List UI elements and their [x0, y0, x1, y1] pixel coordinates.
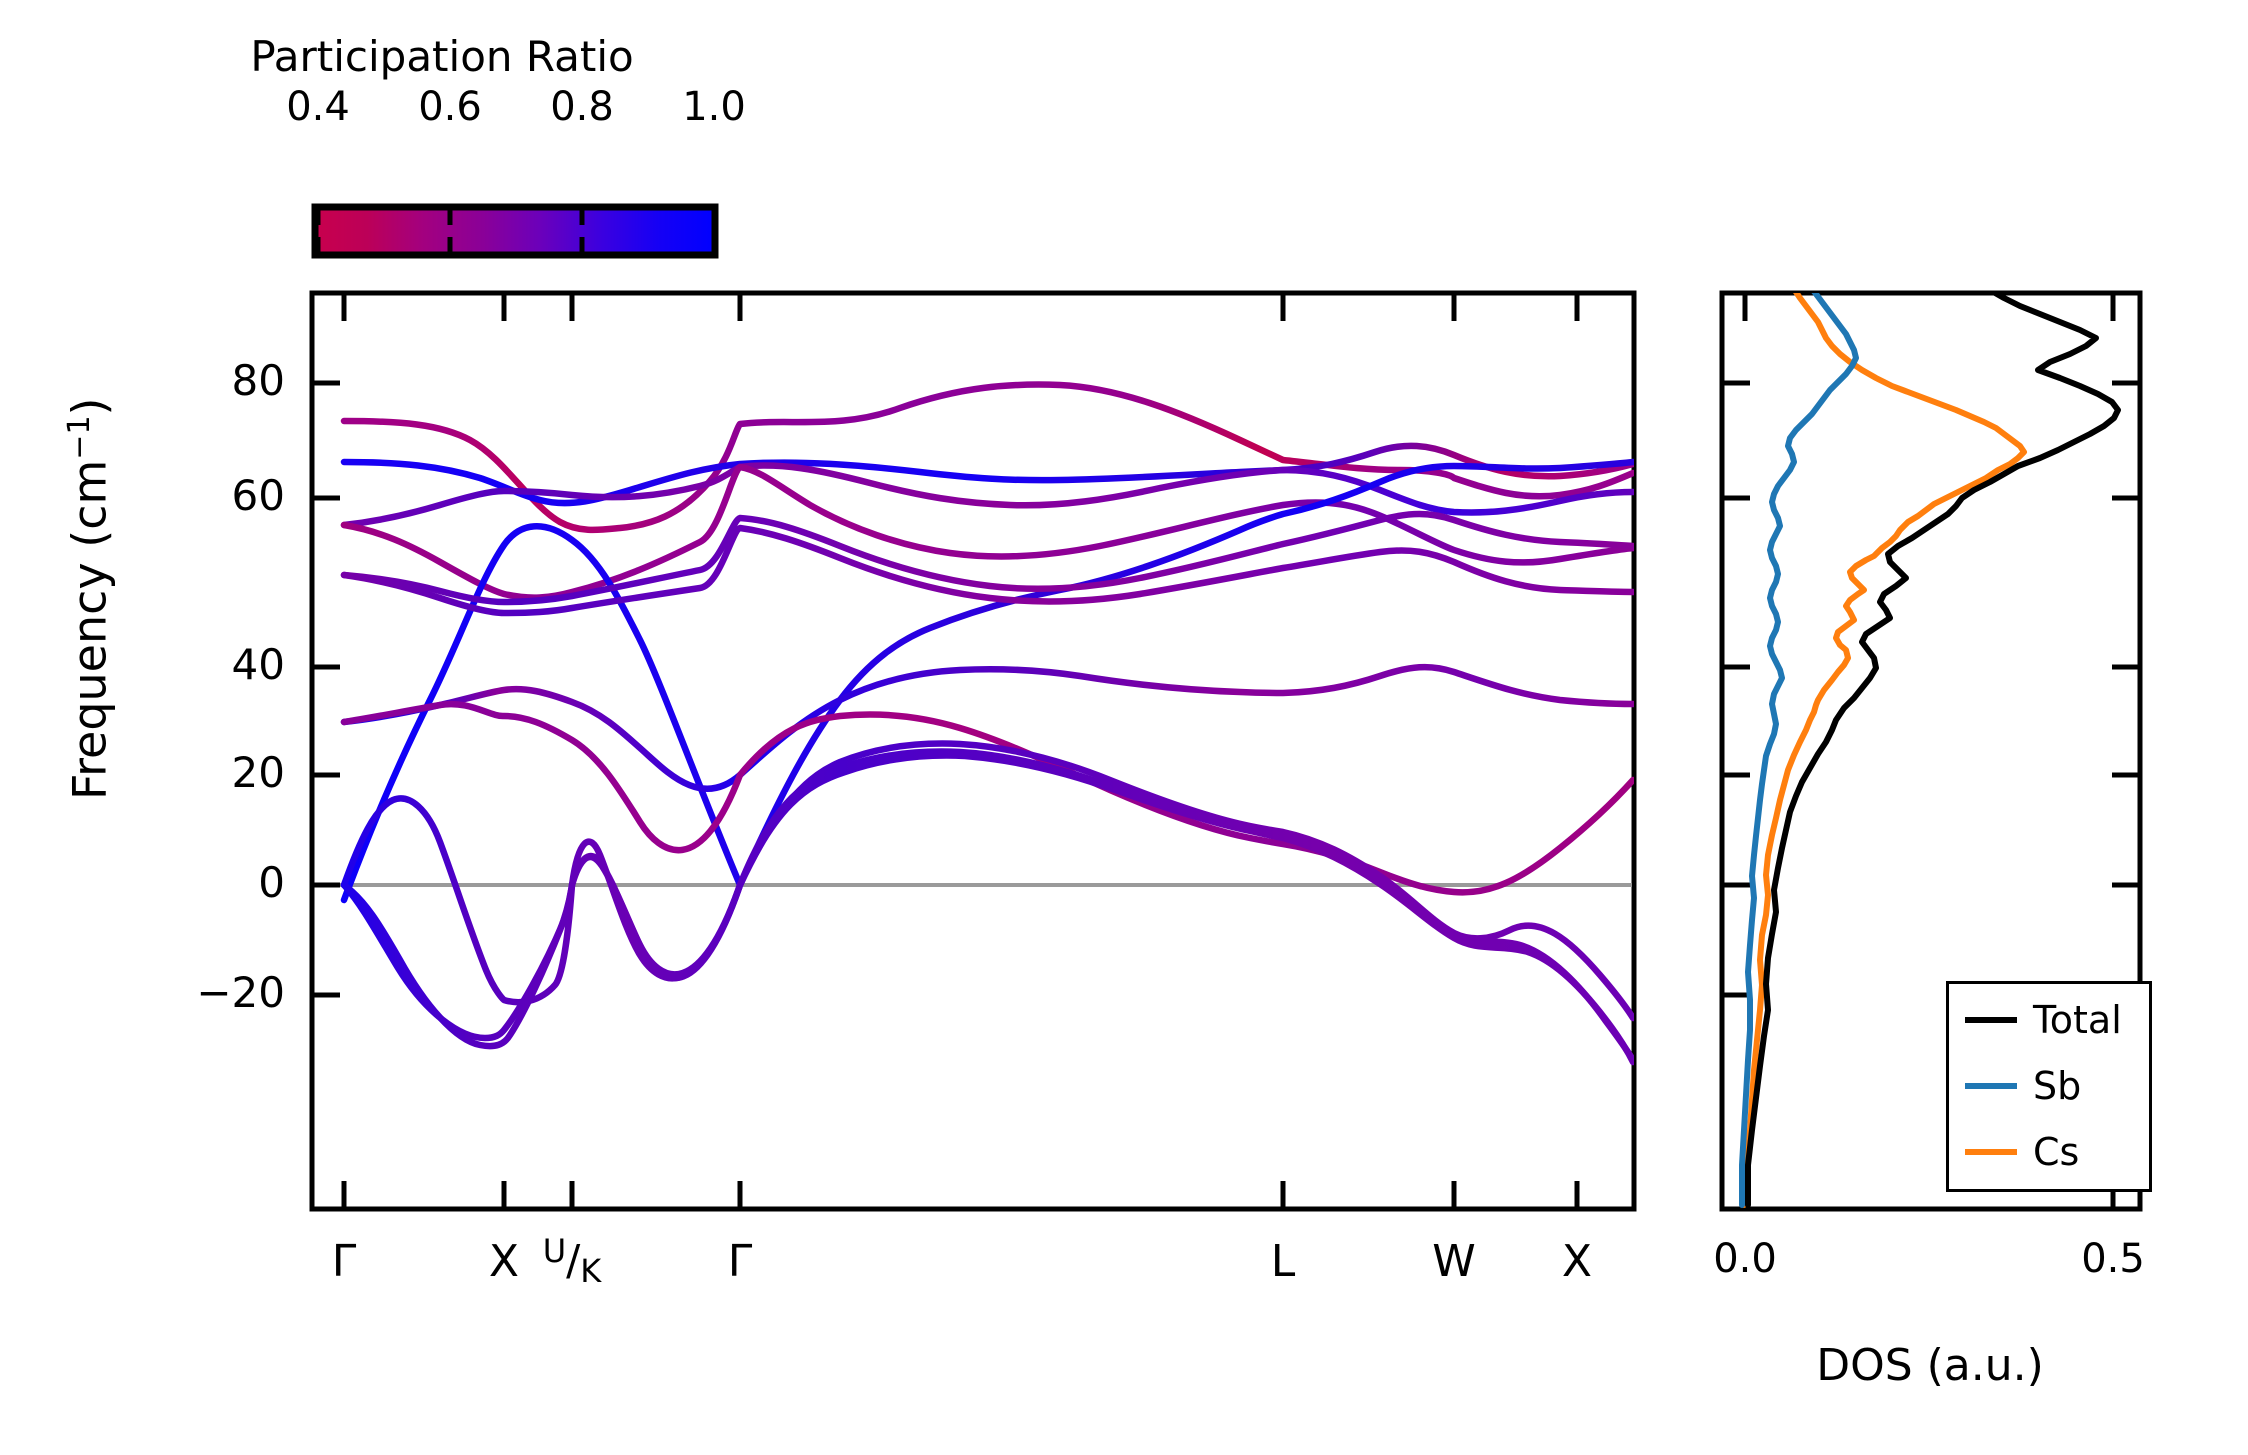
- legend-item-total: Total: [1965, 998, 2122, 1042]
- band-branch-1: [344, 756, 1633, 1062]
- legend-swatch-sb: [1965, 1083, 2017, 1089]
- legend-label-cs: Cs: [2033, 1130, 2079, 1174]
- plot-svg: [0, 0, 2248, 1455]
- legend-swatch-total: [1965, 1017, 2017, 1023]
- band-branch-9: [344, 467, 1633, 598]
- band-branch-4: [344, 704, 1633, 892]
- band-branch-2: [344, 752, 1633, 1060]
- legend-swatch-cs: [1965, 1149, 2017, 1155]
- figure-root: Participation Ratio 0.4 0.6 0.8 1.0: [0, 0, 2248, 1455]
- legend-label-total: Total: [2033, 998, 2122, 1042]
- band-curves: [344, 385, 1633, 1062]
- dos-legend: Total Sb Cs: [1946, 981, 2152, 1192]
- band-branch-5: [344, 667, 1633, 789]
- band-branch-8: [344, 462, 1633, 900]
- legend-item-sb: Sb: [1965, 1064, 2081, 1108]
- legend-label-sb: Sb: [2033, 1064, 2081, 1108]
- legend-item-cs: Cs: [1965, 1130, 2079, 1174]
